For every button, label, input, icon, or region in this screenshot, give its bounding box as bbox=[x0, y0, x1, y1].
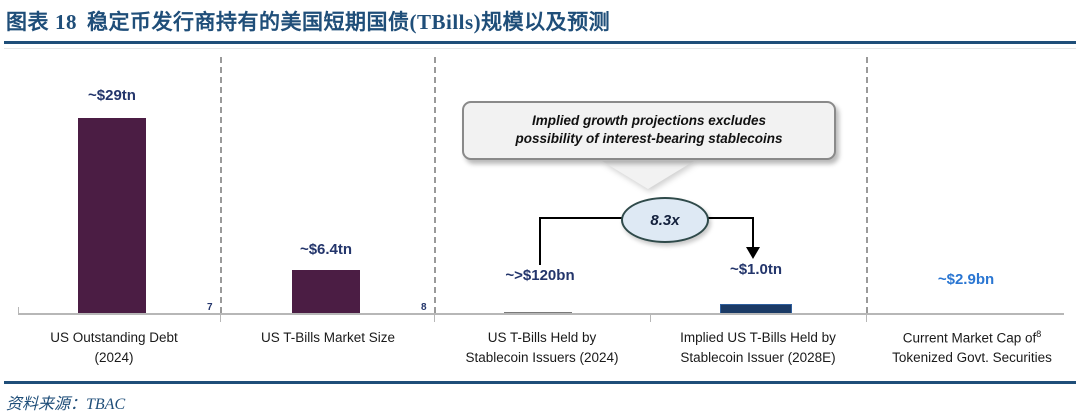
category-label-tokenized-govt-securities: Current Market Cap of8 Tokenized Govt. S… bbox=[868, 328, 1076, 368]
data-label-us-tbills-market-size: ~$6.4tn bbox=[282, 241, 370, 258]
axis-footnote-marker-8: 8 bbox=[421, 302, 427, 313]
data-label-tbills-held-stablecoin-2024: ~>$120bn bbox=[484, 267, 596, 284]
category-line-1: Implied US T-Bills Held by bbox=[652, 328, 864, 348]
bar-us-tbills-market-size bbox=[292, 270, 360, 315]
data-label-us-outstanding-debt: ~$29tn bbox=[70, 87, 154, 104]
category-line-2: Stablecoin Issuer (2028E) bbox=[652, 348, 864, 368]
connector-arrowhead bbox=[746, 247, 760, 259]
connector-left-horizontal bbox=[539, 217, 634, 219]
callout-line-2: possibility of interest-bearing stableco… bbox=[476, 130, 822, 148]
callout-box: Implied growth projections excludes poss… bbox=[462, 101, 836, 160]
callout-line-1: Implied growth projections excludes bbox=[476, 112, 822, 130]
x-axis-tick-2 bbox=[434, 315, 435, 322]
category-label-us-outstanding-debt: US Outstanding Debt (2024) bbox=[14, 328, 214, 367]
section-divider-3 bbox=[866, 57, 868, 313]
figure-label: 图表 bbox=[6, 10, 49, 34]
x-axis-tick-3 bbox=[650, 315, 651, 322]
figure-title: 图表18稳定币发行商持有的美国短期国债(TBills)规模以及预测 bbox=[6, 6, 1066, 36]
footnote-marker-8: 8 bbox=[1036, 329, 1041, 339]
category-line-1-text: Current Market Cap of bbox=[903, 331, 1037, 346]
category-label-tbills-held-stablecoin-2024: US T-Bills Held by Stablecoin Issuers (2… bbox=[440, 328, 644, 367]
category-line-1: Current Market Cap of8 bbox=[868, 328, 1076, 348]
x-axis-tick-1 bbox=[220, 315, 221, 322]
category-line-1: US T-Bills Held by bbox=[440, 328, 644, 348]
category-line-2: Tokenized Govt. Securities bbox=[868, 348, 1076, 368]
title-divider-rule bbox=[4, 41, 1076, 44]
connector-left-vertical bbox=[539, 217, 541, 265]
source-note: 资料来源：TBAC bbox=[6, 390, 125, 414]
category-line-2: Stablecoin Issuers (2024) bbox=[440, 348, 644, 368]
growth-multiple-badge: 8.3x bbox=[621, 197, 709, 243]
category-line-2: (2024) bbox=[14, 348, 214, 368]
category-label-us-tbills-market-size: US T-Bills Market Size bbox=[228, 328, 428, 348]
figure-number: 18 bbox=[49, 10, 87, 34]
axis-footnote-marker-7: 7 bbox=[207, 302, 213, 313]
section-divider-2 bbox=[434, 57, 436, 313]
x-axis-line bbox=[18, 313, 1064, 315]
x-axis-tick-4 bbox=[866, 315, 867, 322]
data-label-tokenized-govt-securities: ~$2.9bn bbox=[916, 271, 1016, 288]
category-line-1: US T-Bills Market Size bbox=[228, 328, 428, 348]
bottom-divider-rule bbox=[4, 381, 1076, 384]
x-axis-category-labels: US Outstanding Debt (2024) US T-Bills Ma… bbox=[4, 328, 1076, 374]
category-line-1: US Outstanding Debt bbox=[14, 328, 214, 348]
chart-figure: 图表18稳定币发行商持有的美国短期国债(TBills)规模以及预测 Implie… bbox=[0, 0, 1080, 419]
bar-us-outstanding-debt bbox=[78, 118, 146, 315]
section-divider-1 bbox=[220, 57, 222, 313]
figure-title-text: 稳定币发行商持有的美国短期国债(TBills)规模以及预测 bbox=[87, 10, 610, 34]
data-label-implied-tbills-2028e: ~$1.0tn bbox=[706, 261, 806, 278]
category-label-implied-tbills-2028e: Implied US T-Bills Held by Stablecoin Is… bbox=[652, 328, 864, 367]
callout-tail bbox=[602, 161, 694, 189]
x-axis-cap-left bbox=[18, 307, 19, 315]
connector-right-vertical bbox=[752, 217, 754, 250]
